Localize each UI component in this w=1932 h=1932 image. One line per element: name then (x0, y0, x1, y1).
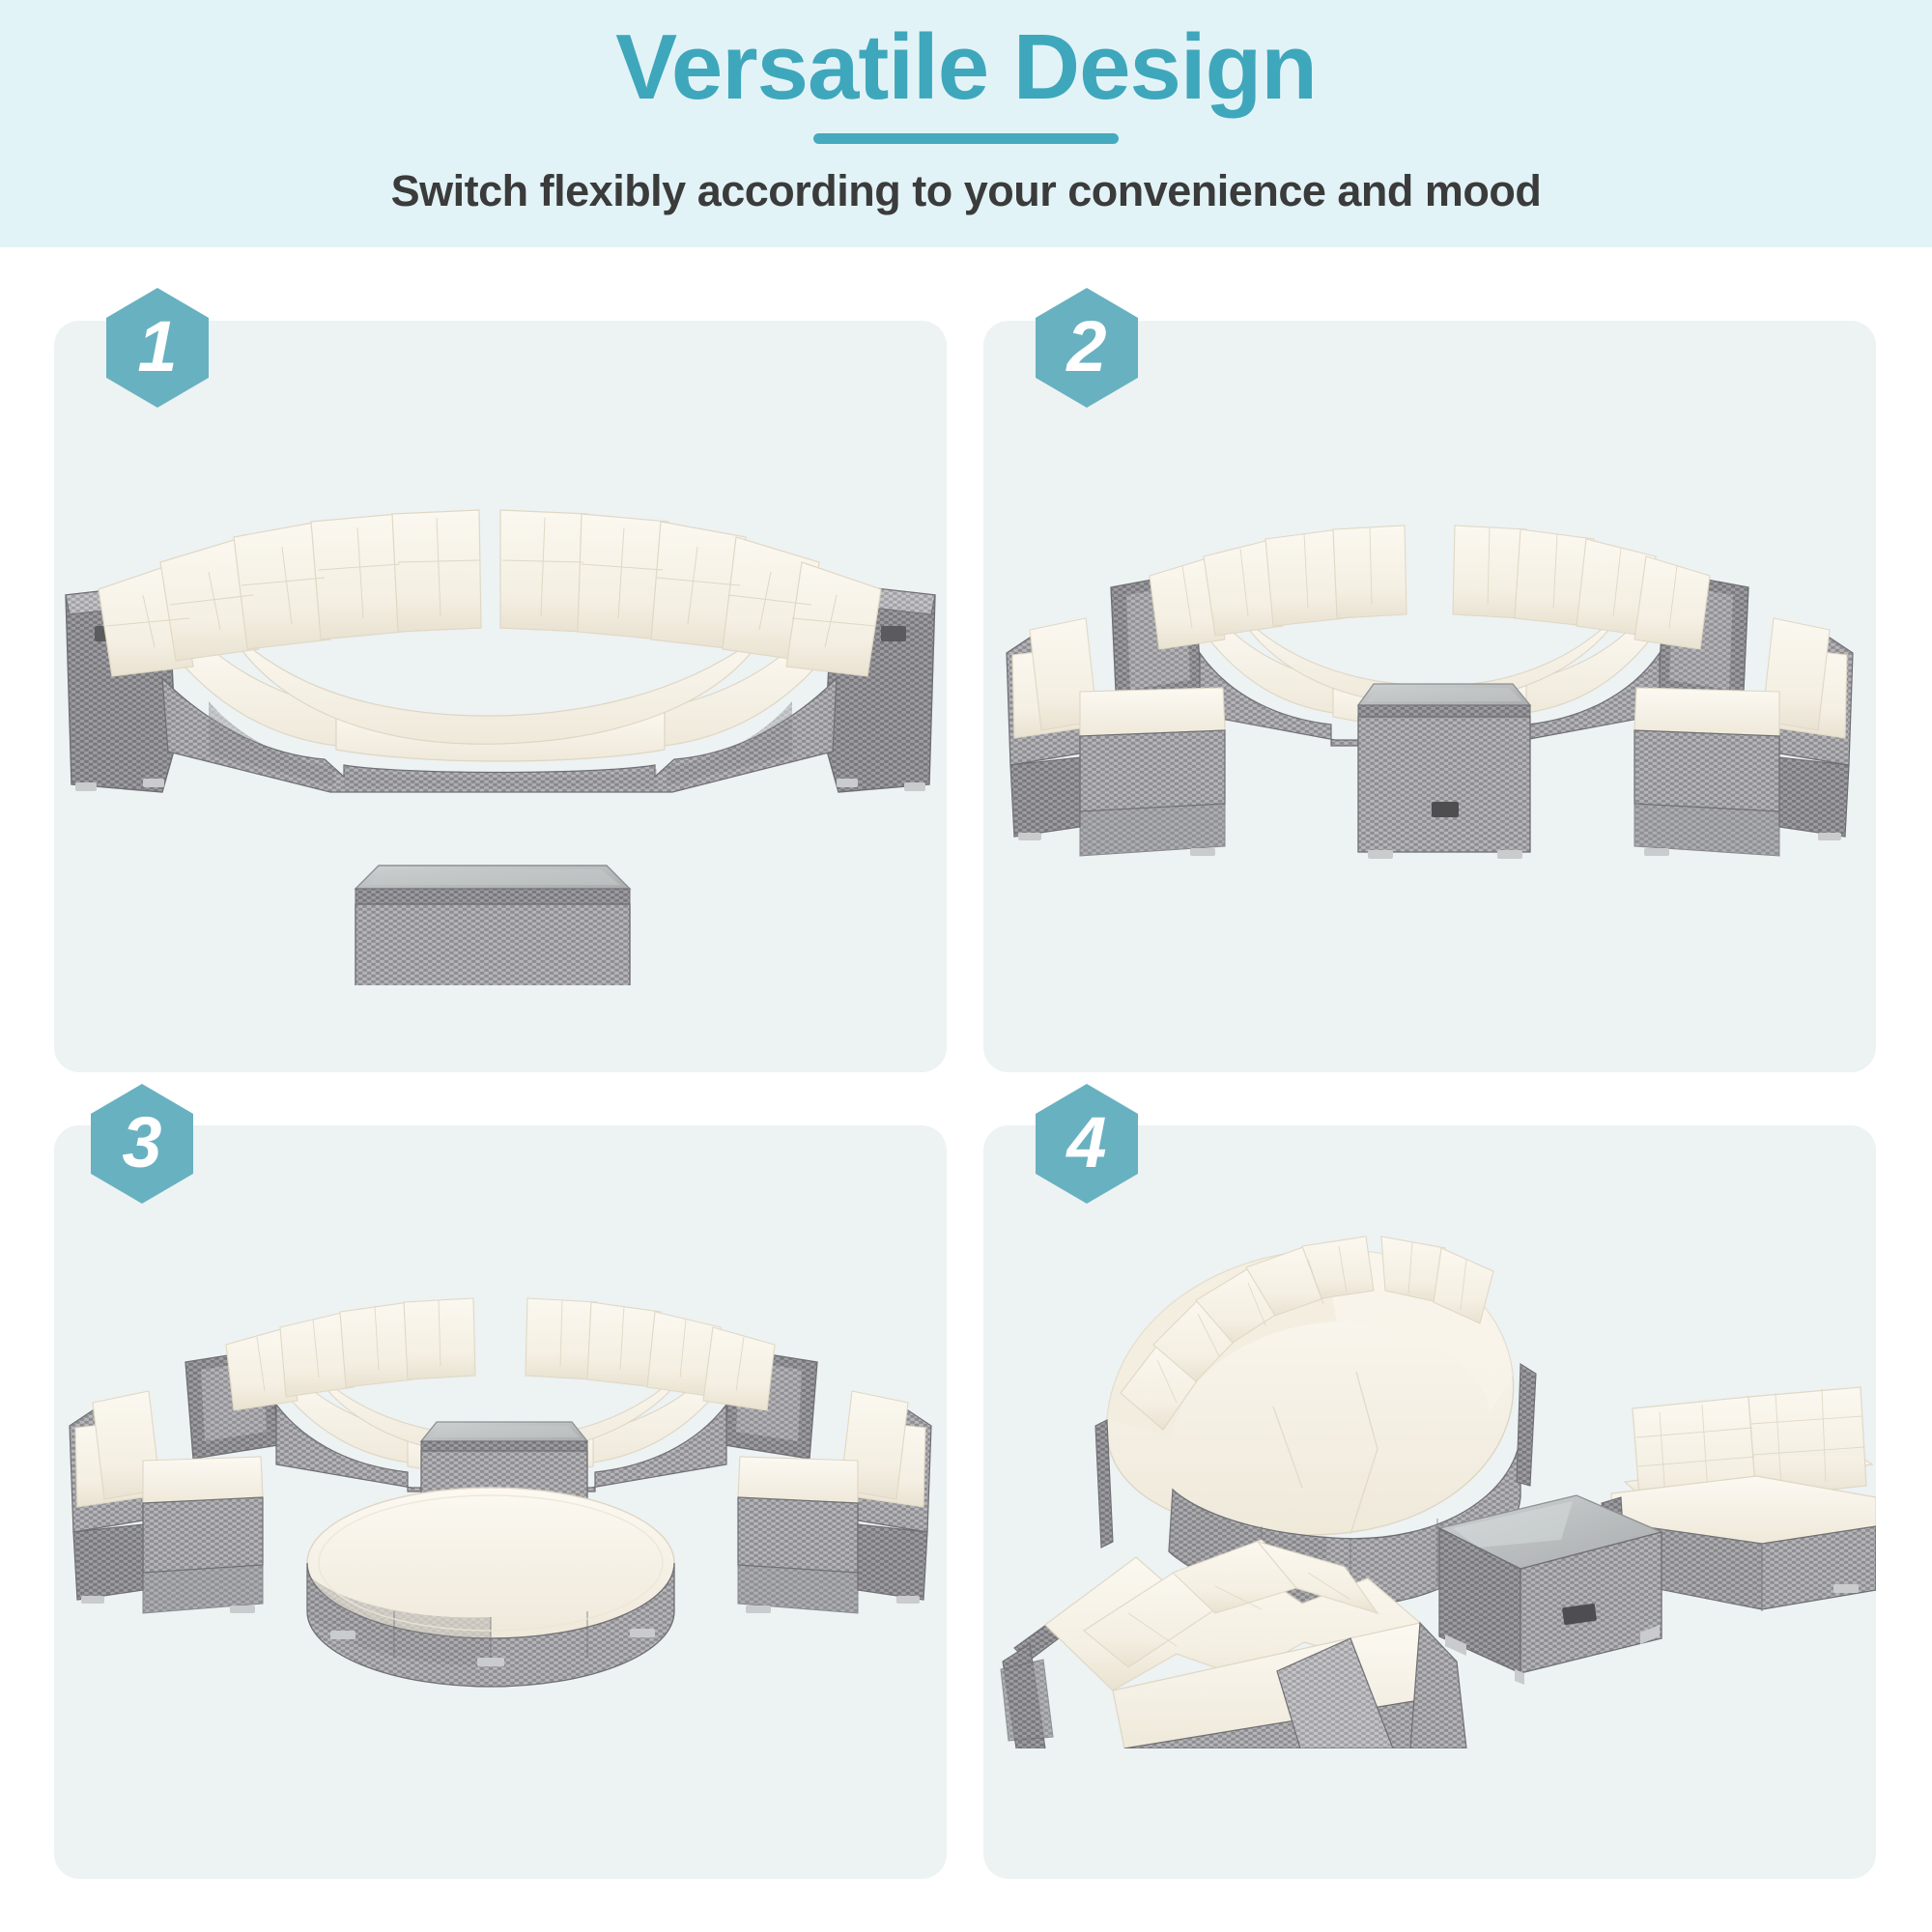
step-badge-2: 2 (1036, 288, 1138, 408)
furniture-illustration-3 (54, 1285, 947, 1719)
furniture-illustration-1 (54, 502, 947, 985)
step-badge-1: 1 (106, 288, 209, 408)
coffee-table-2 (1358, 684, 1530, 859)
sofa-back-cushions (99, 510, 881, 676)
infographic-page: Versatile Design Switch flexibly accordi… (0, 0, 1932, 1932)
curved-sofa-3-back-cushions (226, 1298, 775, 1410)
furniture-illustration-4 (983, 1207, 1876, 1748)
step-number-label: 2 (1036, 288, 1138, 408)
coffee-table-1 (355, 866, 630, 985)
step-number-label: 1 (106, 288, 209, 408)
page-title: Versatile Design (0, 19, 1932, 117)
step-number-label: 4 (1036, 1084, 1138, 1204)
step-number-label: 3 (91, 1084, 193, 1204)
page-subtitle: Switch flexibly according to your conven… (0, 166, 1932, 216)
curved-sofa-2-back-cushions (1150, 526, 1710, 649)
furniture-illustration-2 (983, 522, 1876, 889)
side-table-4 (1439, 1495, 1662, 1685)
step-badge-3: 3 (91, 1084, 193, 1204)
round-ottoman-3 (307, 1488, 674, 1687)
step-badge-4: 4 (1036, 1084, 1138, 1204)
title-underline-rule (813, 133, 1119, 144)
